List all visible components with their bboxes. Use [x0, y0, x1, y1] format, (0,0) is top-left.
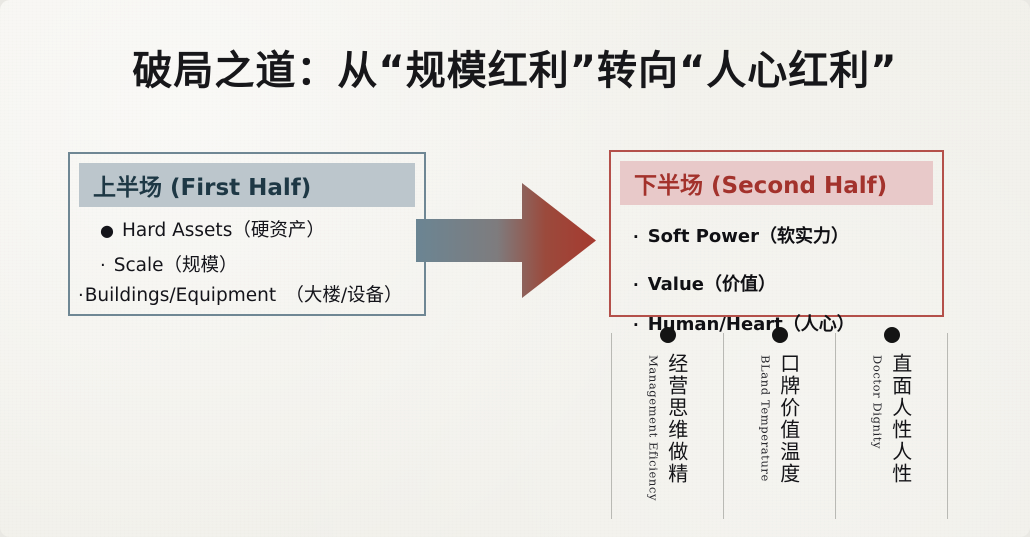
transition-arrow — [416, 183, 596, 298]
pillar-label-en: Management Eficiency — [646, 355, 660, 501]
pillar-label-en: BLand Temperature — [758, 355, 772, 482]
arrow-shape — [416, 183, 596, 298]
column-divider — [947, 333, 948, 519]
bullet-circle-icon — [772, 327, 788, 343]
list-item-label: Buildings/Equipment （大楼/设备） — [85, 287, 403, 306]
pillar-label-zh: 直面人性人性 — [888, 353, 912, 485]
list-item: · Soft Power（软实力） — [633, 222, 942, 248]
second-half-heading: 下半场 (Second Half) — [620, 161, 933, 205]
second-half-item-list: · Soft Power（软实力） · Value（价值） · Human/He… — [611, 212, 942, 336]
list-item: ● Hard Assets（硬资产） — [100, 222, 420, 241]
first-half-box: 上半场 (First Half) ● Hard Assets（硬资产） · Sc… — [68, 152, 426, 316]
slide-canvas: 破局之道：从“规模红利”转向“人心红利” 上半场 (First Half) ● … — [0, 0, 1030, 537]
first-half-item-list: ● Hard Assets（硬资产） · Scale（规模） · Buildin… — [70, 214, 424, 306]
second-half-box: 下半场 (Second Half) · Soft Power（软实力） · Va… — [609, 150, 944, 317]
pillar-label-zh: 经营思维做精 — [664, 353, 688, 485]
bullet-middot-icon: · — [633, 276, 639, 294]
list-item-label: Hard Assets（硬资产） — [122, 222, 325, 241]
pillar-column-dignity: 直面人性人性 Doctor Dignity — [836, 327, 947, 519]
list-item-label: Scale（规模） — [114, 257, 238, 276]
bullet-middot-icon: · — [633, 228, 639, 246]
pillar-column-brand: 口牌价值温度 BLand Temperature — [724, 327, 835, 519]
list-item: · Scale（规模） — [100, 257, 420, 276]
bullet-dot-icon: ● — [100, 223, 114, 239]
bullet-circle-icon — [660, 327, 676, 343]
list-item: · Value（价值） — [633, 270, 942, 296]
bullet-middot-icon: · — [78, 287, 84, 305]
pillar-columns: 经营思维做精 Management Eficiency 口牌价值温度 BLand… — [611, 327, 948, 519]
page-title: 破局之道：从“规模红利”转向“人心红利” — [0, 38, 1030, 96]
pillar-label-zh: 口牌价值温度 — [776, 353, 800, 485]
first-half-heading: 上半场 (First Half) — [79, 163, 415, 207]
bullet-middot-icon: · — [100, 257, 106, 275]
bullet-circle-icon — [884, 327, 900, 343]
list-item: · Buildings/Equipment （大楼/设备） — [78, 287, 420, 306]
pillar-column-management: 经营思维做精 Management Eficiency — [612, 327, 723, 519]
pillar-label-en: Doctor Dignity — [870, 355, 884, 449]
list-item-label: Soft Power（软实力） — [648, 222, 849, 248]
list-item-label: Value（价值） — [648, 270, 776, 296]
